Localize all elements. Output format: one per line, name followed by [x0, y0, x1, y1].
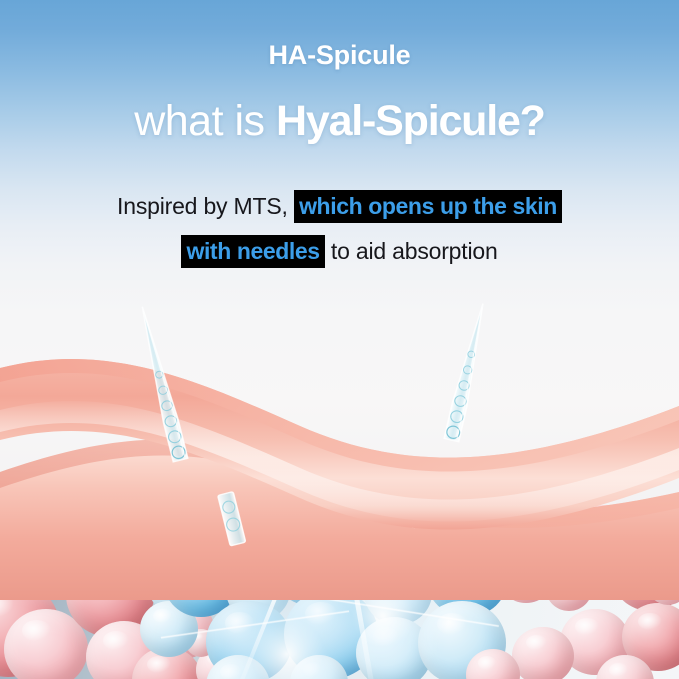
bubble-blue: [364, 561, 432, 625]
dermis-bubble-field: [0, 505, 679, 679]
headline-bold-part: Hyal-Spicule?: [276, 97, 545, 145]
bubble-blue: [262, 547, 296, 579]
subtitle-line2-highlight: with needles: [181, 235, 324, 268]
subtitle-line-1: Inspired by MTS, which opens up the skin: [0, 192, 679, 220]
bubble-pink: [546, 567, 592, 611]
page-title: what is Hyal-Spicule?: [0, 95, 679, 147]
headline-light-part: what is: [134, 97, 276, 145]
subtitle-line-2: with needles to aid absorption: [0, 237, 679, 265]
bubble-pink: [512, 627, 574, 679]
subtitle-line1-plain: Inspired by MTS,: [117, 193, 288, 219]
subtitle-line1-highlight: which opens up the skin: [294, 190, 562, 223]
bubble-blue: [378, 511, 406, 537]
infographic-canvas: HA-Spicule what is Hyal-Spicule? Inspire…: [0, 0, 679, 679]
bubble-pink: [508, 511, 568, 567]
bubble-pink: [16, 505, 88, 565]
subtitle-line2-plain: to aid absorption: [325, 238, 498, 264]
eyebrow-title: HA-Spicule: [0, 40, 679, 71]
